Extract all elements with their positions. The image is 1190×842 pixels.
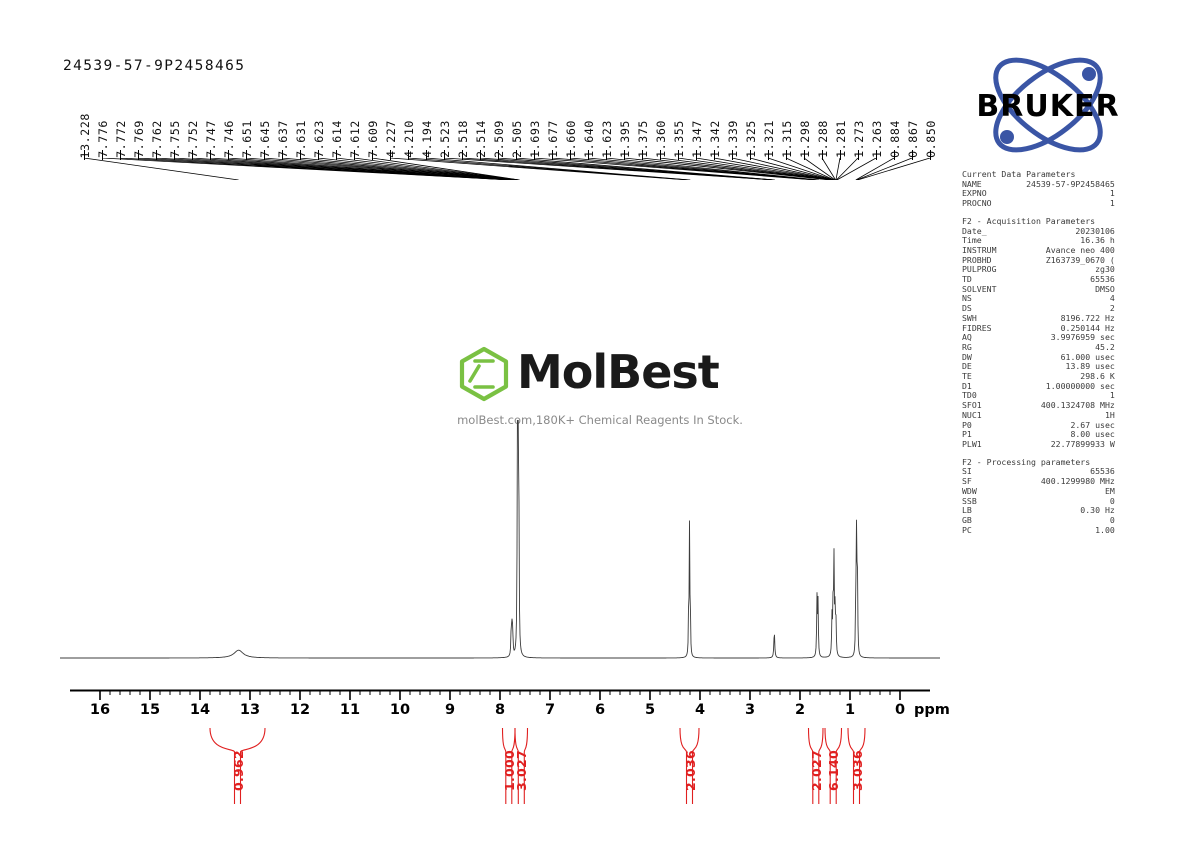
parameter-group: Current Data ParametersNAME 24539-57-9P2… xyxy=(962,170,1142,209)
axis-tick-label: 15 xyxy=(140,702,160,718)
acquisition-parameters-panel: Current Data ParametersNAME 24539-57-9P2… xyxy=(962,170,1142,543)
parameter-row: PROCNO 1 xyxy=(962,199,1142,209)
axis-tick-label: 7 xyxy=(545,702,555,718)
integral-value: 3.027 xyxy=(514,750,529,791)
axis-tick-label: 13 xyxy=(240,702,260,718)
axis-tick-label: 8 xyxy=(495,702,505,718)
parameter-group: F2 - Acquisition ParametersDate_ 2023010… xyxy=(962,217,1142,450)
peak-leader-line xyxy=(696,158,833,180)
parameter-row: PLW1 22.77899933 W xyxy=(962,440,1142,450)
peak-leader-line xyxy=(837,158,876,180)
axis-tick-label: 3 xyxy=(745,702,755,718)
integral-value: 2.027 xyxy=(809,750,824,791)
axis-tick-label: 10 xyxy=(390,702,410,718)
axis-tick-label: 11 xyxy=(340,702,360,718)
axis-tick-label: 4 xyxy=(695,702,705,718)
axis-tick-label: 6 xyxy=(595,702,605,718)
axis-tick-label: 9 xyxy=(445,702,455,718)
parameter-group: F2 - Processing parametersSI 65536SF 400… xyxy=(962,458,1142,536)
axis-tick-label: 12 xyxy=(290,702,310,718)
nmr-spectrum-page: 24539-57-9P2458465 13.2287.7767.7727.769… xyxy=(0,0,1190,842)
integral-value: 2.036 xyxy=(683,750,698,791)
axis-tick-label: 16 xyxy=(90,702,110,718)
axis-tick-label: 14 xyxy=(190,702,210,718)
bruker-wordmark: BRUKER xyxy=(976,89,1119,124)
peak-leader-lines xyxy=(0,158,950,180)
peak-leader-line xyxy=(857,158,912,180)
axis-tick-label: 1 xyxy=(845,702,855,718)
integral-value: 6.140 xyxy=(826,750,841,791)
parameter-row: PC 1.00 xyxy=(962,526,1142,536)
integral-value: 0.962 xyxy=(231,750,246,791)
molbest-hexagon-icon xyxy=(455,345,513,403)
integral-value: 3.036 xyxy=(850,750,865,791)
axis-tick-label: 5 xyxy=(645,702,655,718)
molbest-brand-text: MolBest xyxy=(517,343,719,401)
integral-curves xyxy=(0,726,950,806)
axis-ticks xyxy=(60,689,940,703)
axis-tick-label: 2 xyxy=(795,702,805,718)
peak-leader-line xyxy=(858,158,931,180)
axis-tick-label: 0 xyxy=(895,702,905,718)
spectrum-trace xyxy=(0,420,950,675)
peak-leader-line xyxy=(856,158,894,180)
axis-unit-label: ppm xyxy=(914,702,950,718)
ppm-axis: 161514131211109876543210ppm xyxy=(60,688,940,730)
peak-label-strip: 13.2287.7767.7727.7697.7627.7557.7527.74… xyxy=(0,78,950,158)
bruker-logo: BRUKER xyxy=(958,52,1138,162)
page-title: 24539-57-9P2458465 xyxy=(63,58,245,74)
spectrum-line xyxy=(60,420,940,658)
